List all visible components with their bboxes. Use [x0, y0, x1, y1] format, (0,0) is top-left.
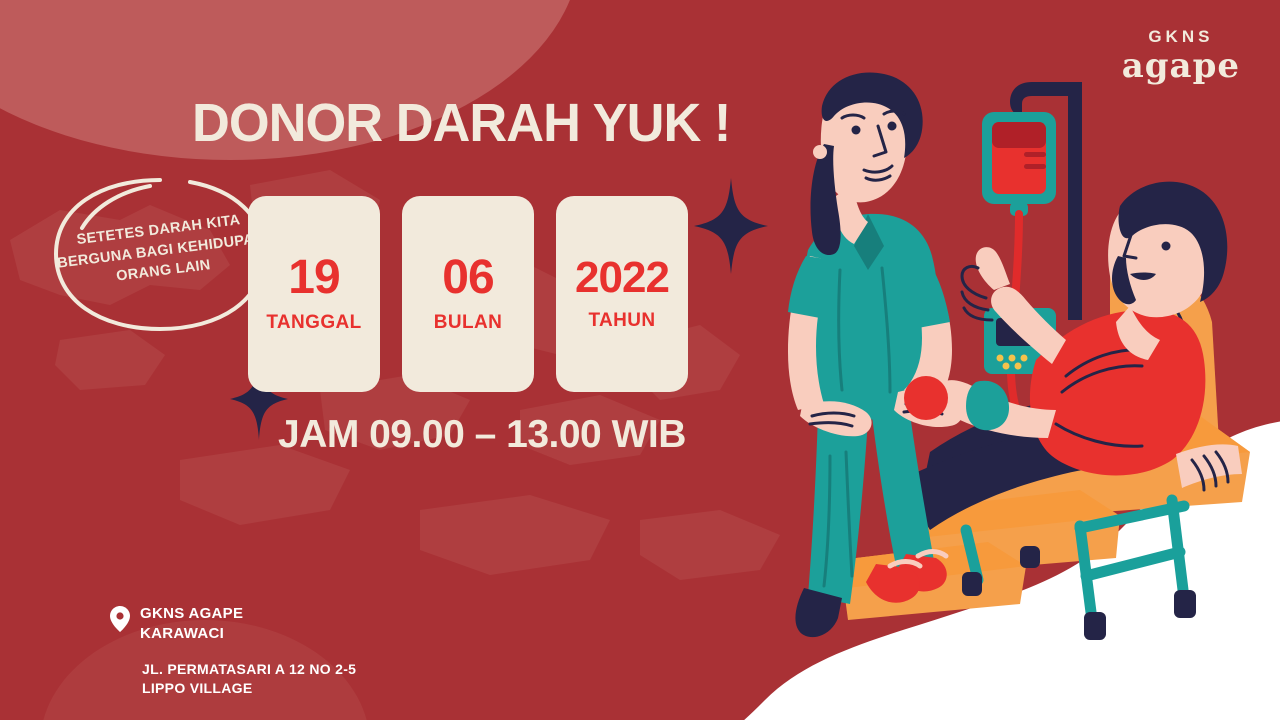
page-title: DONOR DARAH YUK !	[192, 92, 730, 154]
logo-gkns-text: GKNS	[1122, 28, 1240, 45]
venue-line-2: KARAWACI	[140, 624, 243, 644]
location-pin-icon	[110, 606, 130, 632]
nurse-figure	[788, 72, 962, 637]
date-card-label: TAHUN	[588, 310, 655, 332]
venue-address: JL. PERMATASARI A 12 NO 2-5 LIPPO VILLAG…	[142, 660, 356, 698]
date-card-label: BULAN	[434, 312, 503, 334]
footer-location-block: GKNS AGAPE KARAWACI JL. PERMATASARI A 12…	[110, 604, 356, 698]
poster-canvas: GKNS agape DONOR DARAH YUK ! SETETES DAR…	[0, 0, 1280, 720]
venue-name: GKNS AGAPE KARAWACI	[140, 604, 243, 645]
venue-line-1: GKNS AGAPE	[140, 604, 243, 624]
event-time: JAM 09.00 – 13.00 WIB	[278, 413, 686, 457]
blood-bag	[982, 112, 1056, 216]
date-card-tanggal: 19 TANGGAL	[248, 196, 380, 392]
address-line-1: JL. PERMATASARI A 12 NO 2-5	[142, 660, 356, 679]
date-card-label: TANGGAL	[266, 312, 361, 334]
date-card-value: 19	[288, 254, 339, 302]
slogan-bubble: SETETES DARAH KITA BERGUNA BAGI KEHIDUPA…	[42, 172, 277, 337]
date-card-value: 2022	[575, 256, 669, 300]
blood-donation-illustration	[780, 60, 1280, 680]
date-card-value: 06	[442, 254, 493, 302]
venue-row: GKNS AGAPE KARAWACI	[110, 604, 356, 645]
address-line-2: LIPPO VILLAGE	[142, 679, 356, 698]
date-card-bulan: 06 BULAN	[402, 196, 534, 392]
date-card-group: 19 TANGGAL 06 BULAN 2022 TAHUN	[248, 196, 688, 392]
squeeze-ball	[904, 376, 948, 420]
date-card-tahun: 2022 TAHUN	[556, 196, 688, 392]
sparkle-star-icon-1	[694, 178, 768, 274]
